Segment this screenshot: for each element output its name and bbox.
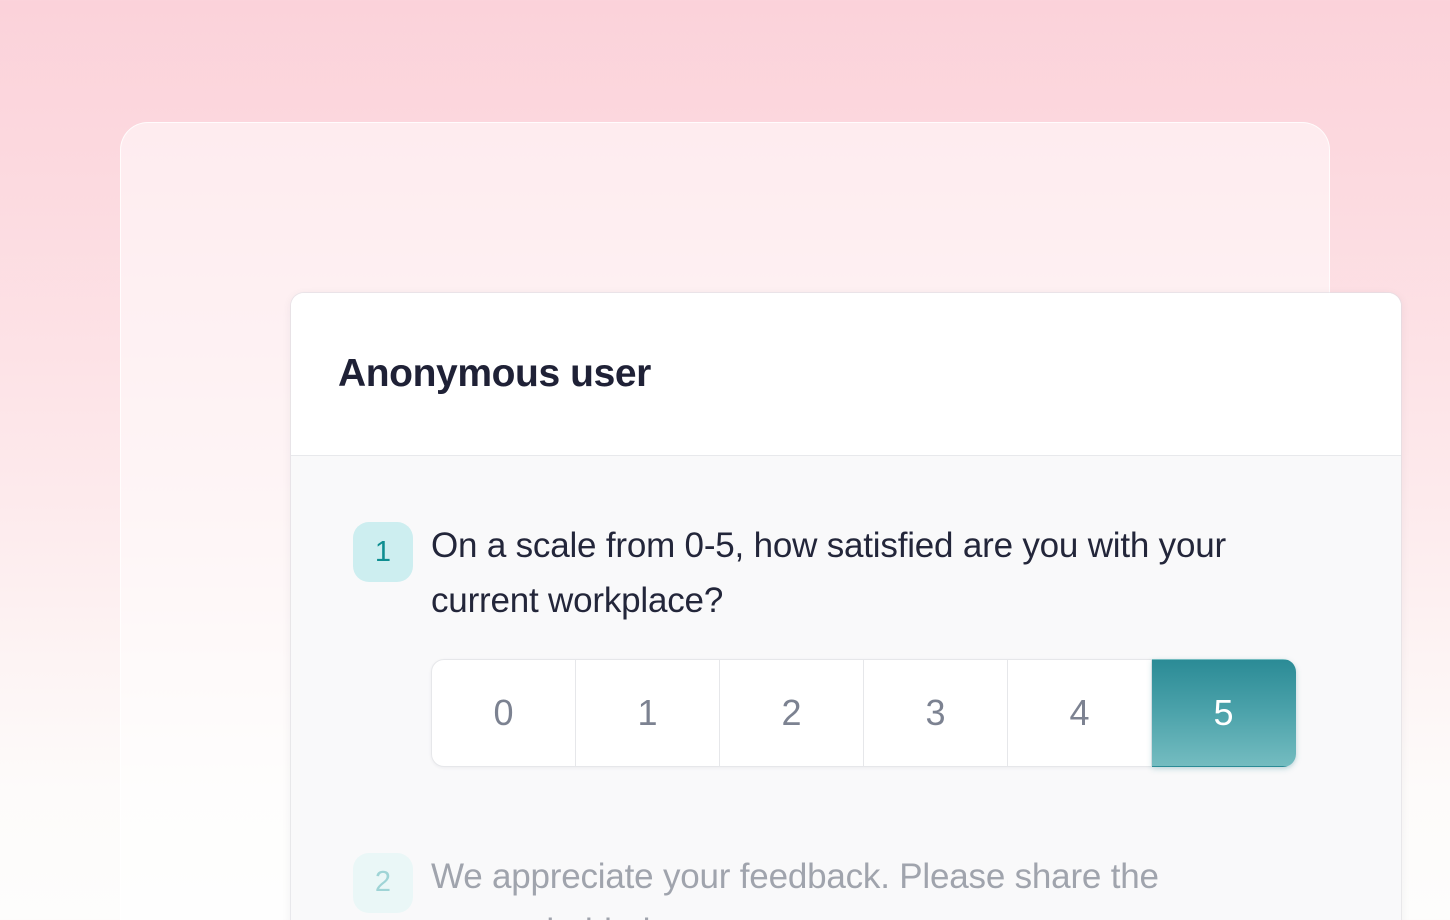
- question-block-1: 1 On a scale from 0-5, how satisfied are…: [291, 518, 1401, 767]
- survey-outer-frame: Anonymous user 1 On a scale from 0-5, ho…: [120, 122, 1330, 920]
- rating-option-1[interactable]: 1: [576, 659, 720, 767]
- rating-option-3[interactable]: 3: [864, 659, 1008, 767]
- question-content-2: We appreciate your feedback. Please shar…: [431, 849, 1361, 920]
- card-body: 1 On a scale from 0-5, how satisfied are…: [291, 456, 1401, 920]
- question-text-1: On a scale from 0-5, how satisfied are y…: [431, 518, 1246, 629]
- rating-option-5-selected[interactable]: 5: [1152, 659, 1296, 767]
- question-number-badge-1: 1: [353, 522, 413, 582]
- rating-option-0[interactable]: 0: [431, 659, 576, 767]
- question-content-1: On a scale from 0-5, how satisfied are y…: [431, 518, 1361, 767]
- rating-scale[interactable]: 0 1 2 3 4 5: [431, 659, 1296, 767]
- survey-card: Anonymous user 1 On a scale from 0-5, ho…: [291, 293, 1401, 920]
- page-title: Anonymous user: [338, 353, 651, 396]
- rating-option-2[interactable]: 2: [720, 659, 864, 767]
- question-text-2: We appreciate your feedback. Please shar…: [431, 849, 1246, 920]
- question-block-2: 2 We appreciate your feedback. Please sh…: [291, 849, 1401, 920]
- rating-option-4[interactable]: 4: [1008, 659, 1152, 767]
- question-number-badge-2: 2: [353, 853, 413, 913]
- card-header: Anonymous user: [291, 293, 1401, 456]
